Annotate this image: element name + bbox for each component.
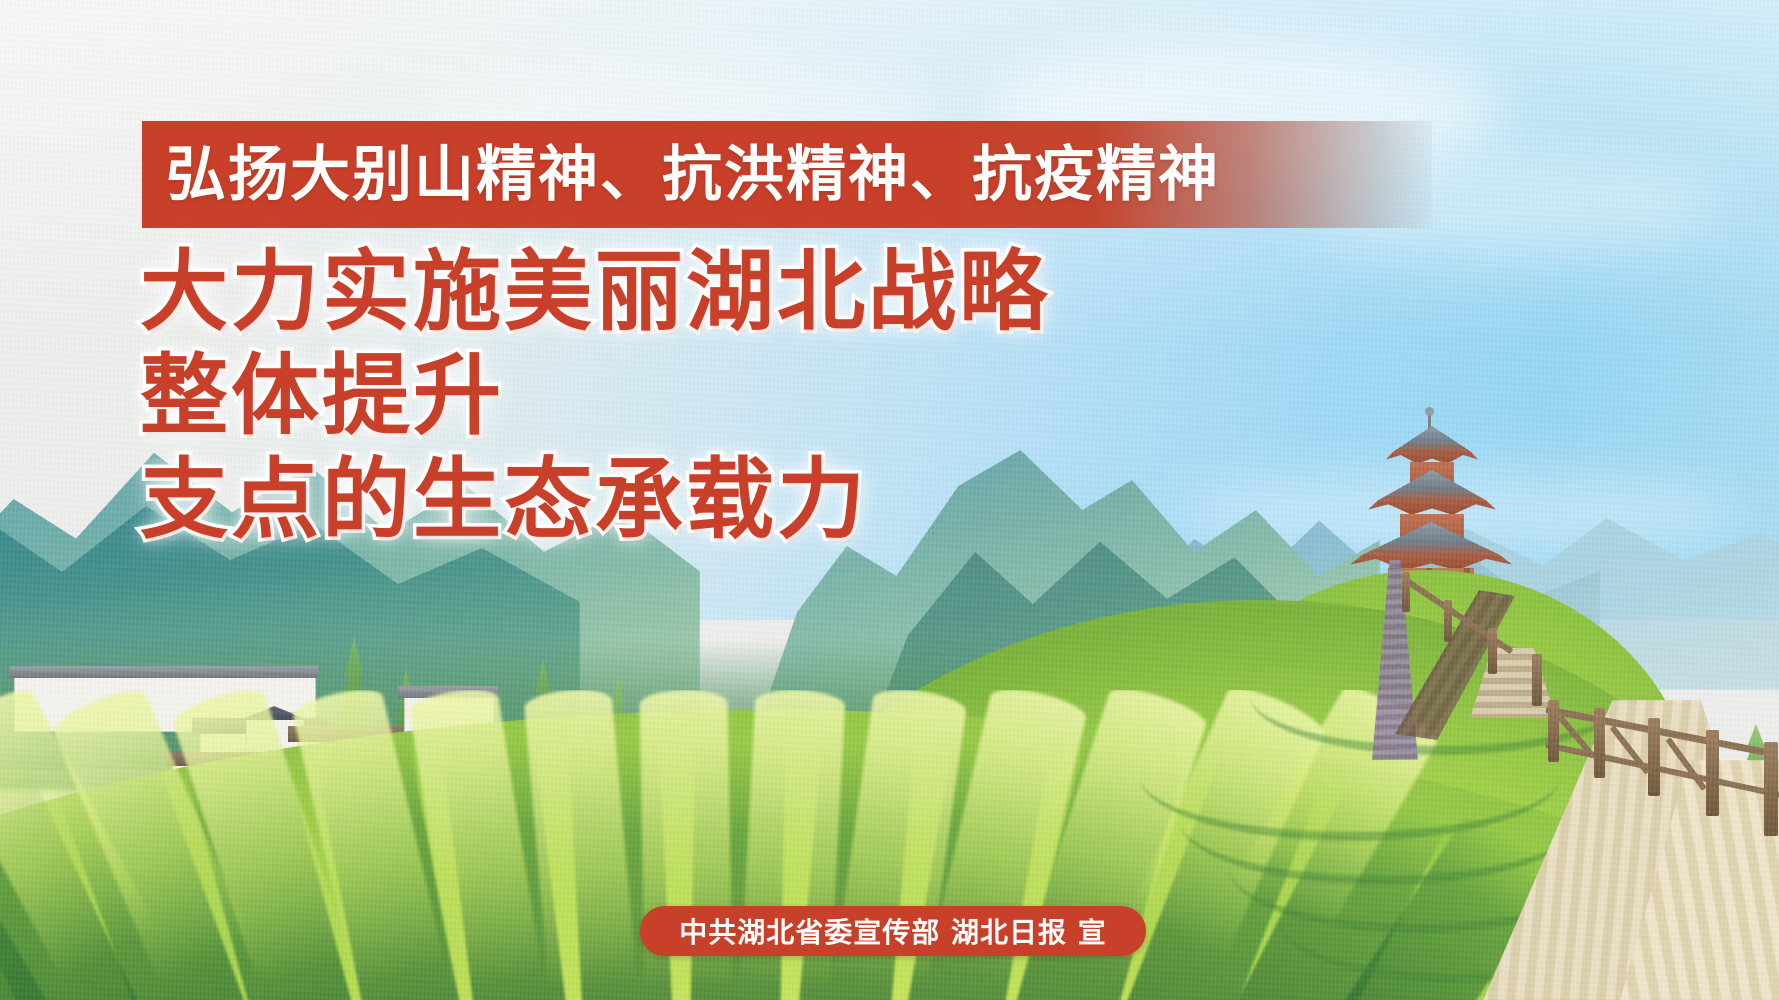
poster-canvas: 弘扬大别山精神、抗洪精神、抗疫精神 大力实施美丽湖北战略 整体提升 支点的生态承… — [0, 0, 1779, 1000]
stair-rail-post — [1444, 600, 1452, 642]
stair-rail-post — [1532, 654, 1542, 706]
rail-post — [1648, 718, 1660, 796]
headline-banner-text: 弘扬大别山精神、抗洪精神、抗疫精神 — [166, 145, 1220, 205]
rail-post — [1594, 708, 1605, 778]
stair-rail-post — [1488, 628, 1497, 674]
title-line-3: 支点的生态承载力 — [140, 448, 1050, 552]
page-title: 大力实施美丽湖北战略 整体提升 支点的生态承载力 — [140, 240, 1050, 551]
rail-post — [1706, 730, 1719, 816]
credit-badge: 中共湖北省委宣传部 湖北日报 宣 — [640, 906, 1146, 956]
rail-post — [1764, 742, 1778, 836]
title-line-1: 大力实施美丽湖北战略 — [140, 240, 1050, 344]
credit-badge-text: 中共湖北省委宣传部 湖北日报 宣 — [679, 911, 1107, 951]
title-line-2: 整体提升 — [140, 344, 1050, 448]
rail-post — [1548, 700, 1559, 762]
headline-banner: 弘扬大别山精神、抗洪精神、抗疫精神 — [142, 121, 1432, 228]
village-longhouse-roof — [10, 666, 318, 678]
stair-rail-post — [1402, 572, 1410, 612]
